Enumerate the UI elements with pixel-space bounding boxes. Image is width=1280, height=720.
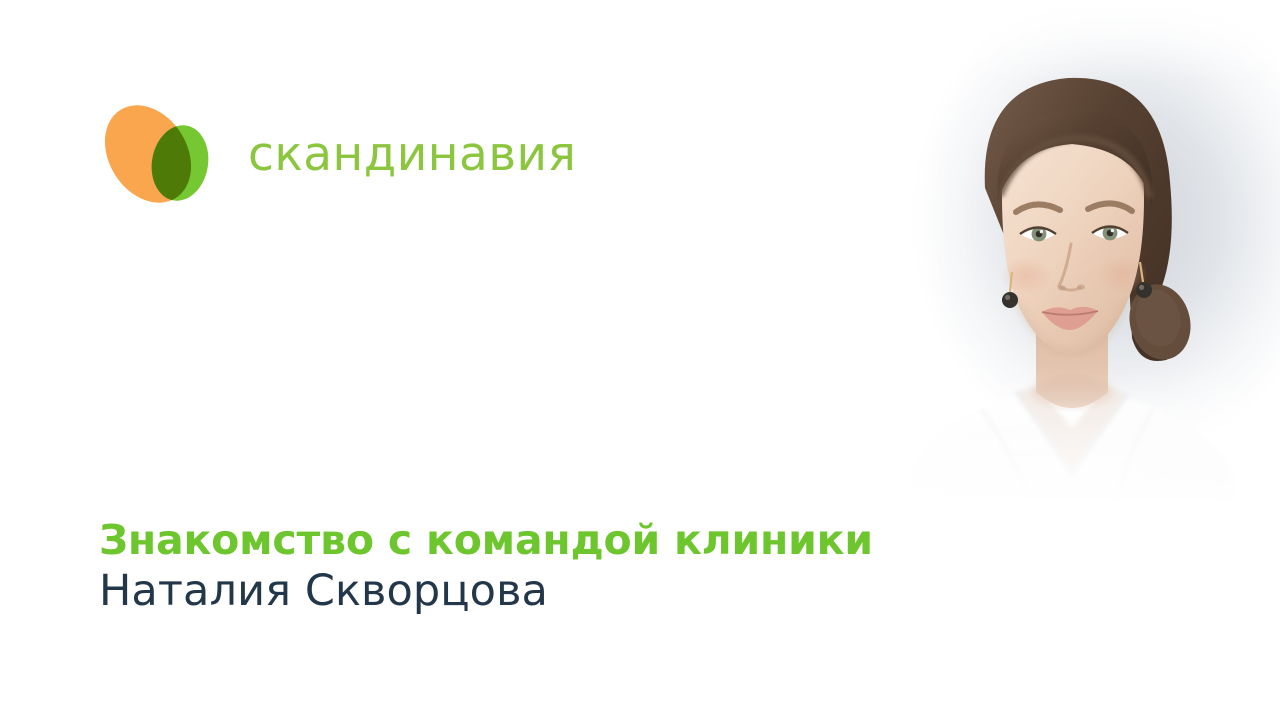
portrait-bottom-fade (840, 370, 1280, 560)
presentation-slide: скандинавия Знакомство с командой клиник… (0, 0, 1280, 720)
portrait-photo (840, 0, 1280, 560)
title-block: Знакомство с командой клиники Наталия Ск… (99, 519, 873, 615)
slide-headline: Знакомство с командой клиники (99, 519, 873, 563)
subject-name: Наталия Скворцова (99, 567, 873, 615)
logo-wordmark: скандинавия (248, 131, 576, 178)
logo-mark-icon (98, 98, 220, 210)
brand-logo: скандинавия (98, 98, 576, 210)
